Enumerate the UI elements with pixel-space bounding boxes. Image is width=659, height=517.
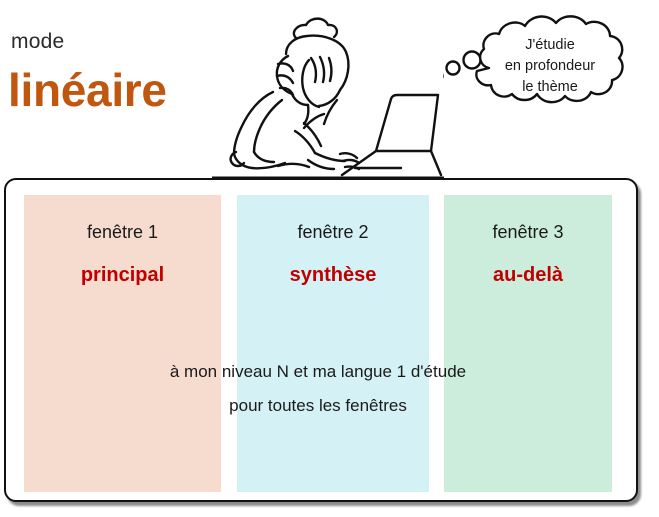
thought-bubble-text: J'étudie en profondeur le thème <box>465 35 635 98</box>
page-title: linéaire <box>8 64 167 116</box>
window-panel-1-heading: fenêtre 1 <box>24 221 221 243</box>
window-panel-2-heading: fenêtre 2 <box>237 221 429 243</box>
thought-bubble-line-3: le thème <box>465 77 635 98</box>
thought-bubble-line-1: J'étudie <box>465 35 635 56</box>
windows-container: fenêtre 1 principal fenêtre 2 synthèse f… <box>4 178 638 502</box>
window-panel-3[interactable]: fenêtre 3 au-delà <box>444 195 612 492</box>
header-area: mode linéaire <box>0 0 659 178</box>
window-panel-2-keyword: synthèse <box>237 263 429 287</box>
thought-bubble-line-2: en profondeur <box>465 56 635 77</box>
window-panel-1[interactable]: fenêtre 1 principal <box>24 195 221 492</box>
window-panel-1-keyword: principal <box>24 263 221 287</box>
student-at-laptop-illustration <box>212 8 444 178</box>
mode-label: mode <box>11 30 64 54</box>
window-panel-2[interactable]: fenêtre 2 synthèse <box>237 195 429 492</box>
window-panel-3-heading: fenêtre 3 <box>444 221 612 243</box>
window-panel-3-keyword: au-delà <box>444 263 612 287</box>
